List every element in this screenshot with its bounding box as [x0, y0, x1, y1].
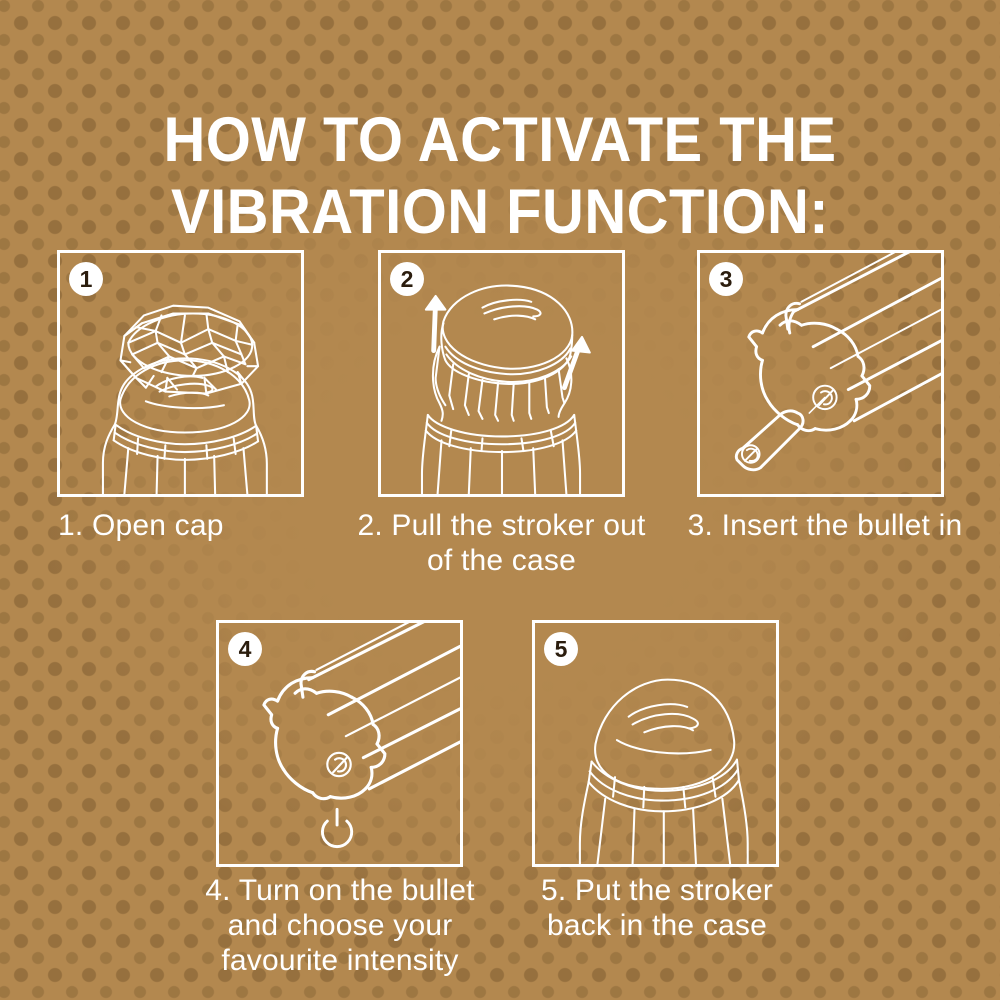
step-panel-5: 5	[532, 620, 779, 867]
step-badge-1: 1	[69, 262, 103, 296]
power-icon	[322, 809, 351, 846]
bullet-button-icon	[742, 445, 760, 463]
step-caption-2-line-1: 2. Pull the stroker out	[355, 508, 648, 543]
step-panel-1: 1	[57, 250, 304, 497]
page-title-line-2: VIBRATION FUNCTION:	[40, 176, 960, 248]
step-caption-4-line-2: and choose your	[195, 908, 485, 943]
step-caption-5-line-2: back in the case	[512, 908, 802, 943]
step-caption-1: 1. Open cap	[20, 508, 350, 543]
bullet-button-installed-icon	[327, 753, 350, 776]
step-caption-4: 4. Turn on the bullet and choose your fa…	[195, 873, 485, 978]
step-caption-3-line-1: 3. Insert the bullet in	[680, 508, 970, 543]
page-title: HOW TO ACTIVATE THE VIBRATION FUNCTION:	[40, 104, 960, 248]
step-caption-5: 5. Put the stroker back in the case	[512, 873, 802, 943]
step-badge-2: 2	[390, 262, 424, 296]
step-caption-4-line-1: 4. Turn on the bullet	[195, 873, 485, 908]
step-panel-2: 2	[378, 250, 625, 497]
page-title-line-1: HOW TO ACTIVATE THE	[40, 104, 960, 176]
step-caption-2-line-2: of the case	[355, 543, 648, 578]
step-badge-4: 4	[228, 632, 262, 666]
step-panel-4: 4	[216, 620, 463, 867]
step-caption-4-line-3: favourite intensity	[195, 943, 485, 978]
step-caption-5-line-1: 5. Put the stroker	[512, 873, 802, 908]
step-badge-3: 3	[709, 262, 743, 296]
step-caption-3: 3. Insert the bullet in	[680, 508, 970, 543]
step-badge-5: 5	[544, 632, 578, 666]
step-caption-1-line-1: 1. Open cap	[58, 508, 350, 543]
step-caption-2: 2. Pull the stroker out of the case	[355, 508, 648, 578]
step-panel-3: 3	[697, 250, 944, 497]
